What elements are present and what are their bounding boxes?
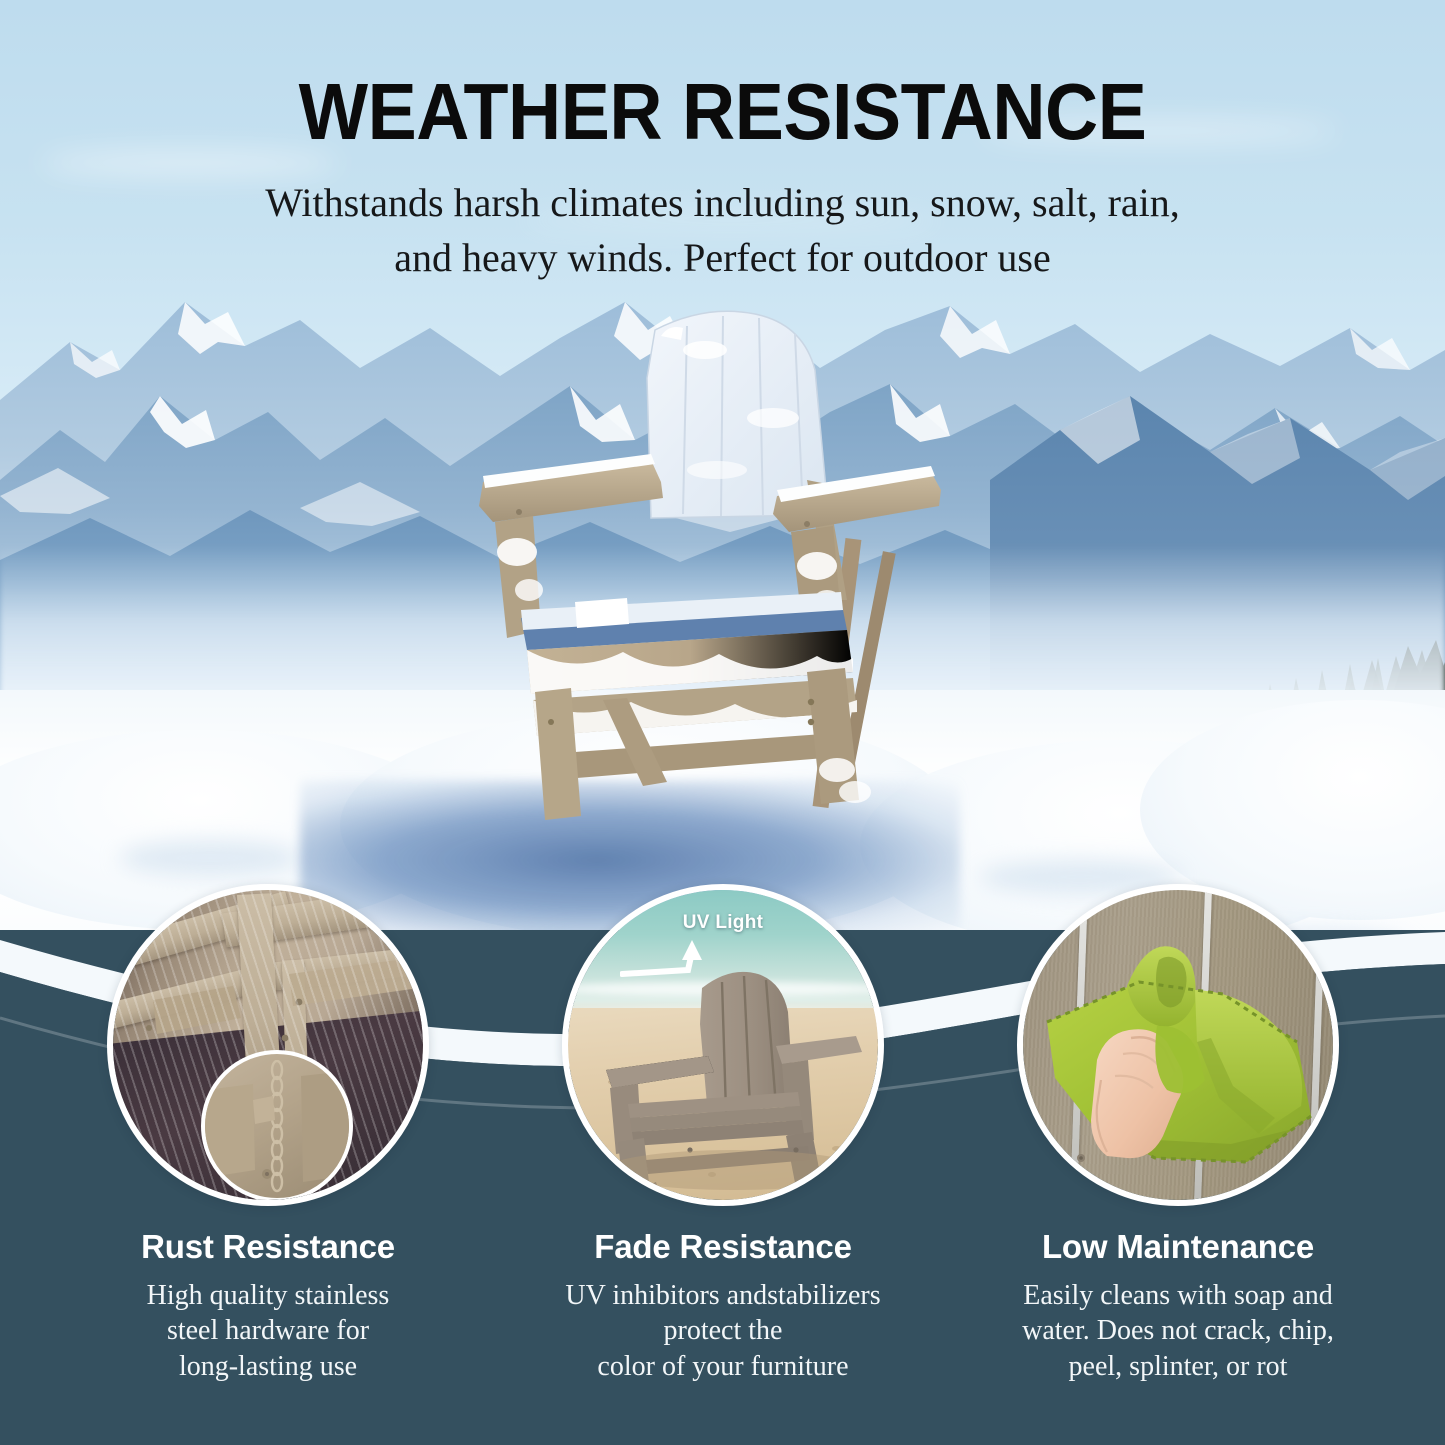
desc-line: color of your furniture — [508, 1349, 938, 1384]
feature-title-fade: Fade Resistance — [508, 1228, 938, 1266]
feature-image-fade-resistance: UV Light — [562, 884, 884, 1206]
feature-desc-fade: UV inhibitors andstabilizers protect the… — [508, 1278, 938, 1384]
feature-image-low-maintenance — [1017, 884, 1339, 1206]
feature-title-rust: Rust Resistance — [53, 1228, 483, 1266]
uv-arrow-icon — [620, 934, 750, 992]
feature-text-fade-resistance: Fade Resistance UV inhibitors andstabili… — [508, 1228, 938, 1384]
feature-desc-rust: High quality stainless steel hardware fo… — [53, 1278, 483, 1384]
uv-light-label: UV Light — [568, 912, 878, 934]
feature-text-rust-resistance: Rust Resistance High quality stainless s… — [53, 1228, 483, 1384]
desc-line: water. Does not crack, chip, — [963, 1313, 1393, 1348]
deck-fastener — [1023, 890, 1333, 1200]
feature-desc-low-maintenance: Easily cleans with soap and water. Does … — [963, 1278, 1393, 1384]
page-title: WEATHER RESISTANCE — [58, 72, 1387, 152]
desc-line: protect the — [508, 1313, 938, 1348]
desc-line: Easily cleans with soap and — [963, 1278, 1393, 1313]
infographic-poster: WEATHER RESISTANCE Withstands harsh clim… — [0, 0, 1445, 1445]
desc-line: peel, splinter, or rot — [963, 1349, 1393, 1384]
feature-text-low-maintenance: Low Maintenance Easily cleans with soap … — [963, 1228, 1393, 1384]
subtitle-line-2: and heavy winds. Perfect for outdoor use — [0, 230, 1445, 285]
rust-detail-inset — [201, 1050, 353, 1200]
subtitle-line-1: Withstands harsh climates including sun,… — [0, 175, 1445, 230]
desc-line: High quality stainless — [53, 1278, 483, 1313]
feature-title-low-maintenance: Low Maintenance — [963, 1228, 1393, 1266]
desc-line: UV inhibitors andstabilizers — [508, 1278, 938, 1313]
feature-image-rust-resistance — [107, 884, 429, 1206]
desc-line: long-lasting use — [53, 1349, 483, 1384]
desc-line: steel hardware for — [53, 1313, 483, 1348]
page-subtitle: Withstands harsh climates including sun,… — [0, 175, 1445, 285]
hero-adirondack-chair — [455, 300, 955, 830]
